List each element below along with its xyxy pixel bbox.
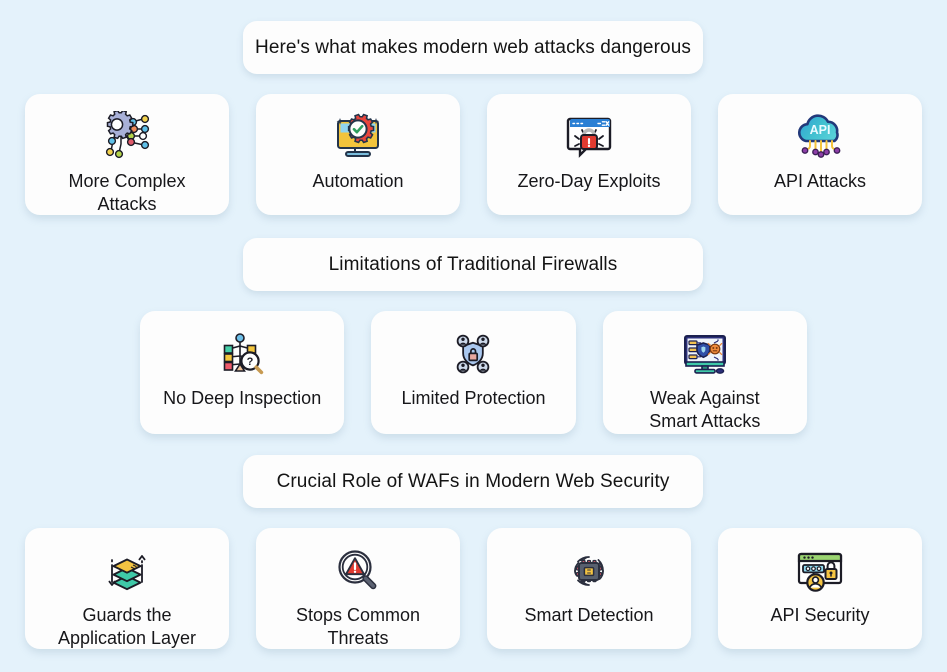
monitor-shield-virus-icon: [676, 325, 734, 383]
card-row-2: Guards the Application Layer Stops Commo…: [25, 528, 922, 649]
gear-network-icon: [98, 108, 156, 166]
card-weak-against-smart-attacks-label: Weak Against Smart Attacks: [649, 387, 760, 432]
card-limited-protection[interactable]: Limited Protection: [371, 311, 575, 434]
card-weak-against-smart-attacks[interactable]: Weak Against Smart Attacks: [603, 311, 807, 434]
card-stops-common-threats-label: Stops Common Threats: [296, 604, 420, 649]
card-automation[interactable]: Automation: [256, 94, 460, 215]
card-automation-label: Automation: [312, 170, 403, 193]
card-row-0: More Complex Attacks Aut: [25, 94, 922, 215]
card-no-deep-inspection[interactable]: ? No Deep Inspection: [140, 311, 344, 434]
card-guards-the-application-layer[interactable]: Guards the Application Layer: [25, 528, 229, 649]
card-smart-detection[interactable]: Smart Detection: [487, 528, 691, 649]
card-api-security-label: API Security: [770, 604, 869, 627]
browser-bug-lock-icon: [560, 108, 618, 166]
svg-text:API: API: [810, 123, 831, 137]
monitor-gear-check-icon: [329, 108, 387, 166]
card-api-attacks-label: API Attacks: [774, 170, 866, 193]
section-header-0: Here's what makes modern web attacks dan…: [243, 21, 703, 74]
tree-magnifier-question-icon: ?: [213, 325, 271, 383]
infographic-root: Here's what makes modern web attacks dan…: [0, 0, 947, 672]
section-header-0-text: Here's what makes modern web attacks dan…: [255, 37, 691, 59]
section-header-1-text: Limitations of Traditional Firewalls: [329, 254, 618, 276]
card-api-security[interactable]: API Security: [718, 528, 922, 649]
section-header-2-text: Crucial Role of WAFs in Modern Web Secur…: [277, 471, 670, 493]
card-api-attacks[interactable]: API: [718, 94, 922, 215]
stacked-layers-arrows-icon: [98, 542, 156, 600]
card-guards-the-application-layer-label: Guards the Application Layer: [58, 604, 196, 649]
browser-padlock-user-icon: [791, 542, 849, 600]
card-zero-day-exploits-label: Zero-Day Exploits: [517, 170, 660, 193]
svg-text:?: ?: [247, 356, 254, 368]
card-smart-detection-label: Smart Detection: [524, 604, 653, 627]
card-limited-protection-label: Limited Protection: [401, 387, 545, 410]
card-zero-day-exploits[interactable]: Zero-Day Exploits: [487, 94, 691, 215]
cpu-chip-signal-icon: [560, 542, 618, 600]
card-stops-common-threats[interactable]: Stops Common Threats: [256, 528, 460, 649]
section-header-2: Crucial Role of WAFs in Modern Web Secur…: [243, 455, 703, 508]
card-no-deep-inspection-label: No Deep Inspection: [163, 387, 321, 410]
shield-lock-users-icon: [444, 325, 502, 383]
card-more-complex-attacks-label: More Complex Attacks: [68, 170, 185, 215]
section-header-1: Limitations of Traditional Firewalls: [243, 238, 703, 291]
api-cloud-icon: API: [791, 108, 849, 166]
magnifier-warning-icon: [329, 542, 387, 600]
card-more-complex-attacks[interactable]: More Complex Attacks: [25, 94, 229, 215]
card-row-1: ? No Deep Inspection: [140, 311, 807, 434]
